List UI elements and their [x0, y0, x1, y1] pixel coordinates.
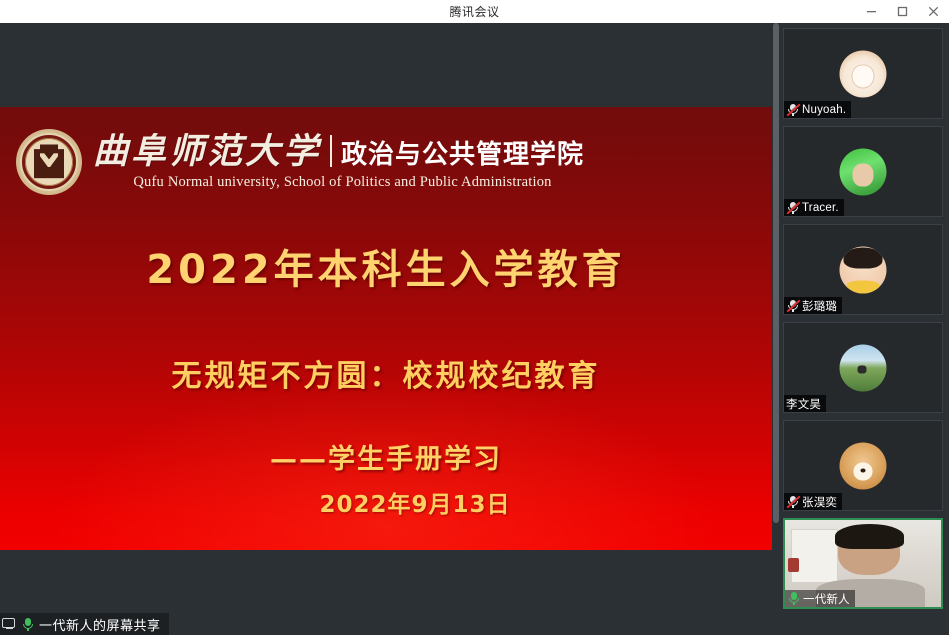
- self-participant-badge: 一代新人: [785, 590, 855, 607]
- participant-tile[interactable]: 彭璐璐: [783, 224, 943, 315]
- screen-share-label: 一代新人的屏幕共享: [39, 615, 161, 634]
- maximize-button[interactable]: [887, 0, 918, 23]
- dog-avatar: [840, 442, 887, 489]
- green-hair-avatar: [840, 148, 887, 195]
- seal-inner: 1955: [25, 138, 73, 186]
- university-name-en: Qufu Normal university, School of Politi…: [93, 174, 584, 191]
- participant-name: 一代新人: [803, 591, 850, 607]
- university-seal-icon: 1955: [16, 129, 82, 195]
- screen-share-icon: [2, 618, 17, 631]
- seal-year: 1955: [43, 172, 55, 178]
- participant-scrollbar[interactable]: [772, 23, 780, 635]
- participant-badge: Tracer.: [784, 199, 844, 216]
- participant-rail: Nuyoah. Tracer.: [772, 23, 949, 635]
- close-button[interactable]: [918, 0, 949, 23]
- participant-badge: Nuyoah.: [784, 101, 851, 118]
- window-titlebar: 腾讯会议: [0, 0, 949, 23]
- participant-tiles: Nuyoah. Tracer.: [780, 23, 949, 635]
- screen-share-banner: 一代新人的屏幕共享: [0, 613, 169, 635]
- participant-badge: 张淏奕: [784, 493, 842, 510]
- mic-on-icon: [21, 617, 35, 632]
- scrollbar-thumb[interactable]: [773, 23, 779, 523]
- participant-name: 张淏奕: [802, 494, 837, 510]
- participant-badge: 李文昊: [784, 395, 826, 412]
- window-controls: [856, 0, 949, 23]
- participant-tile[interactable]: Nuyoah.: [783, 28, 943, 119]
- wordmark-divider: [330, 135, 332, 167]
- school-name-cn: 政治与公共管理学院: [341, 142, 584, 169]
- mic-on-icon: [787, 591, 801, 606]
- mic-off-icon: [786, 201, 800, 215]
- wordmark-row: 曲阜师范大学 政治与公共管理学院: [93, 134, 584, 169]
- participant-name: Tracer.: [802, 202, 839, 214]
- slide-header: 1955 曲阜师范大学 政治与公共管理学院 Qufu Normal univer…: [16, 129, 584, 195]
- participant-tile[interactable]: Tracer.: [783, 126, 943, 217]
- slide-date: 2022年9月13日: [0, 485, 772, 519]
- mic-off-icon: [786, 103, 800, 117]
- participant-name: 彭璐璐: [802, 298, 837, 314]
- presentation-slide: 1955 曲阜师范大学 政治与公共管理学院 Qufu Normal univer…: [0, 107, 772, 550]
- window-title: 腾讯会议: [449, 3, 499, 20]
- bunny-avatar: [840, 50, 887, 97]
- participant-badge: 彭璐璐: [784, 297, 842, 314]
- minimize-icon: [866, 6, 877, 17]
- kid-avatar: [840, 246, 887, 293]
- minimize-button[interactable]: [856, 0, 887, 23]
- mic-off-icon: [786, 299, 800, 313]
- participant-tile[interactable]: 张淏奕: [783, 420, 943, 511]
- self-video-tile[interactable]: 一代新人: [783, 518, 943, 609]
- close-icon: [928, 6, 939, 17]
- slide-subtitle-secondary: ——学生手册学习: [0, 437, 772, 476]
- mic-off-icon: [786, 495, 800, 509]
- participant-tile[interactable]: 李文昊: [783, 322, 943, 413]
- slide-subtitle: 无规矩不方圆：校规校纪教育: [0, 351, 772, 395]
- participant-name: Nuyoah.: [802, 104, 846, 116]
- participant-name: 李文昊: [786, 396, 821, 412]
- tencent-meeting-window: 腾讯会议: [0, 0, 949, 635]
- university-name-cn: 曲阜师范大学: [93, 134, 330, 169]
- university-wordmark: 曲阜师范大学 政治与公共管理学院 Qufu Normal university,…: [93, 134, 584, 191]
- maximize-icon: [897, 6, 908, 17]
- shared-screen-stage[interactable]: 1955 曲阜师范大学 政治与公共管理学院 Qufu Normal univer…: [0, 23, 772, 635]
- slide-main-title: 2022年本科生入学教育: [0, 237, 772, 295]
- landscape-avatar: [840, 344, 887, 391]
